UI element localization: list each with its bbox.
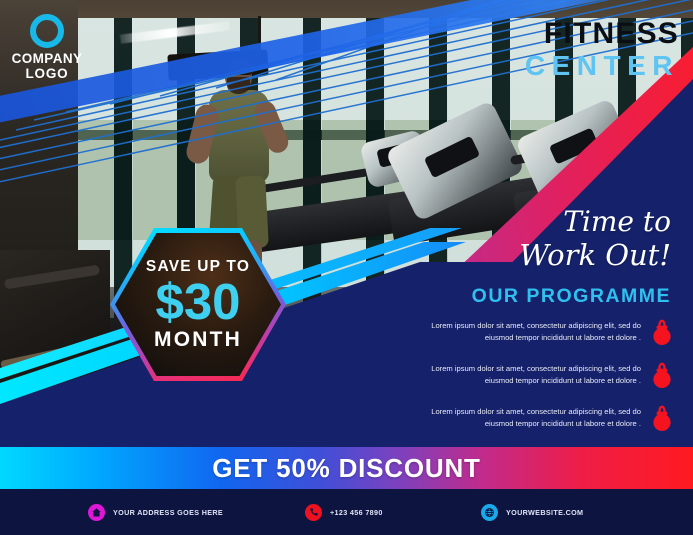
brand-title-line-2: CENTER bbox=[519, 51, 679, 82]
runner-beard bbox=[227, 77, 250, 94]
footer-address[interactable]: YOUR ADDRESS GOES HERE bbox=[88, 504, 223, 521]
logo-line-1: COMPANY bbox=[8, 51, 86, 66]
headline-line-2: Work Out! bbox=[519, 239, 671, 273]
kettlebell-icon bbox=[649, 318, 675, 346]
headline-line-1: Time to bbox=[519, 206, 671, 239]
globe-icon bbox=[481, 504, 498, 521]
badge-price: $30 bbox=[155, 275, 240, 328]
discount-banner-text: GET 50% DISCOUNT bbox=[212, 453, 481, 484]
footer-phone-text: +123 456 7890 bbox=[330, 508, 383, 517]
programme-list: Lorem ipsum dolor sit amet, consectetur … bbox=[385, 318, 675, 447]
promo-headline: Time to Work Out! bbox=[519, 206, 671, 273]
kettlebell-icon bbox=[649, 404, 675, 432]
programme-item-text: Lorem ipsum dolor sit amet, consectetur … bbox=[403, 406, 641, 431]
fitness-center-flyer: COMPANY LOGO FITNESS CENTER SAVE UP TO $… bbox=[0, 0, 693, 535]
programme-section-title: OUR PROGRAMME bbox=[472, 285, 671, 308]
circle-ring-icon bbox=[30, 14, 64, 48]
home-icon bbox=[88, 504, 105, 521]
brand-title: FITNESS CENTER bbox=[519, 18, 679, 81]
discount-banner[interactable]: GET 50% DISCOUNT bbox=[0, 447, 693, 489]
footer-contact-bar: YOUR ADDRESS GOES HERE +123 456 7890 bbox=[0, 489, 693, 535]
programme-item-text: Lorem ipsum dolor sit amet, consectetur … bbox=[403, 320, 641, 345]
footer-website[interactable]: YOURWEBSITE.COM bbox=[481, 504, 583, 521]
footer-website-text: YOURWEBSITE.COM bbox=[506, 508, 583, 517]
price-badge[interactable]: SAVE UP TO $30 MONTH bbox=[110, 228, 286, 381]
footer-address-text: YOUR ADDRESS GOES HERE bbox=[113, 508, 223, 517]
badge-period: MONTH bbox=[154, 329, 242, 350]
logo-line-2: LOGO bbox=[8, 66, 86, 81]
footer-phone[interactable]: +123 456 7890 bbox=[305, 504, 383, 521]
phone-icon bbox=[305, 504, 322, 521]
company-logo[interactable]: COMPANY LOGO bbox=[8, 14, 86, 81]
brand-title-line-1: FITNESS bbox=[519, 18, 679, 50]
list-item: Lorem ipsum dolor sit amet, consectetur … bbox=[385, 361, 675, 389]
badge-save-label: SAVE UP TO bbox=[146, 259, 250, 275]
list-item: Lorem ipsum dolor sit amet, consectetur … bbox=[385, 318, 675, 346]
list-item: Lorem ipsum dolor sit amet, consectetur … bbox=[385, 404, 675, 432]
programme-item-text: Lorem ipsum dolor sit amet, consectetur … bbox=[403, 363, 641, 388]
badge-content: SAVE UP TO $30 MONTH bbox=[110, 228, 286, 381]
kettlebell-icon bbox=[649, 361, 675, 389]
